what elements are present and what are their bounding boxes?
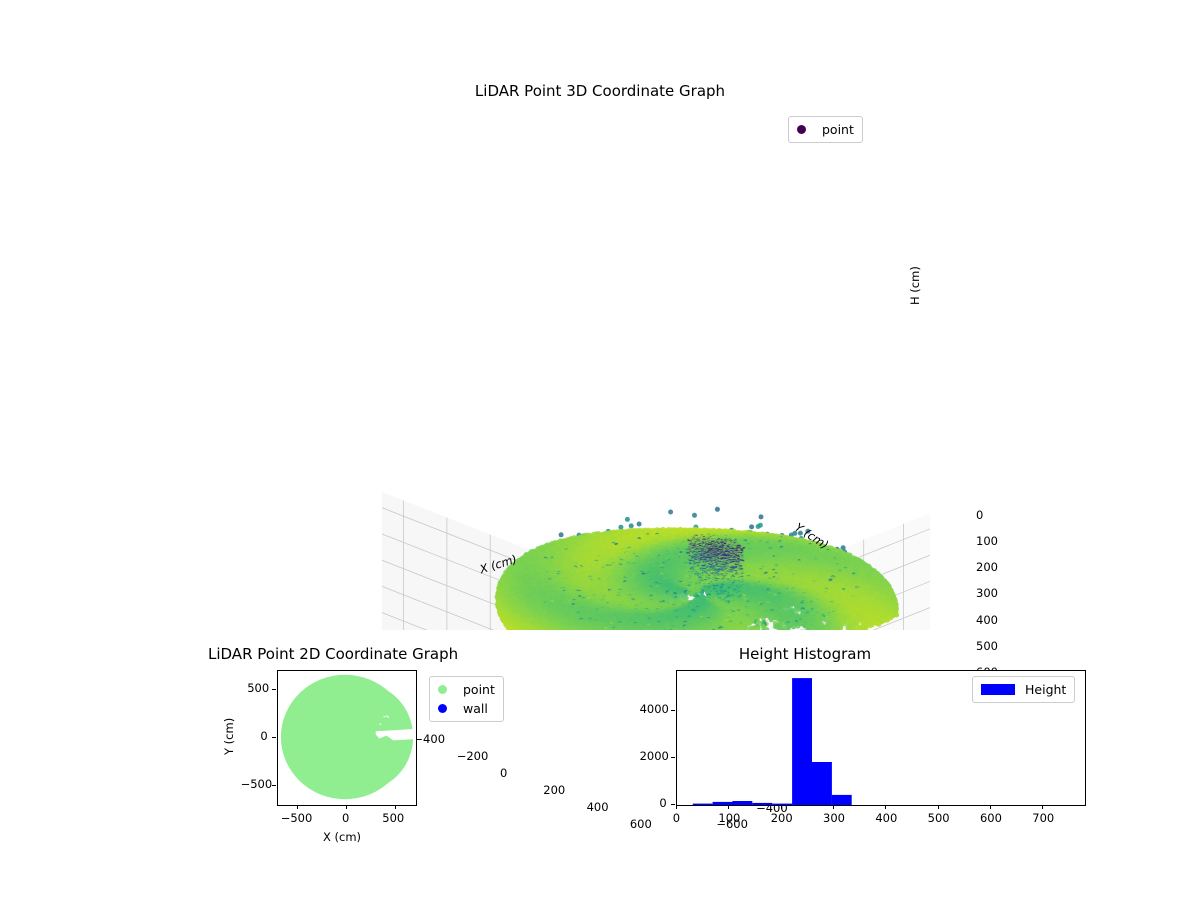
tick-label: 600 bbox=[980, 811, 1002, 825]
tick-label: 500 bbox=[928, 811, 950, 825]
tick-label: 500 bbox=[382, 811, 404, 825]
height-histogram-legend[interactable]: Height bbox=[972, 676, 1075, 703]
tick-label: 700 bbox=[1032, 811, 1054, 825]
lidar-2d-legend[interactable]: point wall bbox=[429, 676, 504, 722]
tick-label: 200 bbox=[771, 811, 793, 825]
lidar-3d-legend[interactable]: point bbox=[788, 116, 863, 143]
lidar-3d-canvas bbox=[330, 140, 930, 630]
figure-canvas: LiDAR Point 3D Coordinate Graph −600−400… bbox=[0, 0, 1200, 900]
tick-mark bbox=[885, 805, 886, 809]
tick-label: 400 bbox=[976, 613, 998, 627]
legend-item-point-2d[interactable]: point bbox=[438, 680, 495, 699]
tick-mark bbox=[671, 710, 675, 711]
tick-label: 200 bbox=[976, 560, 998, 574]
tick-label: 0 bbox=[500, 766, 507, 780]
tick-label: 0 bbox=[659, 796, 666, 810]
tick-label: −400 bbox=[413, 732, 445, 746]
wall-marker-icon bbox=[438, 704, 447, 713]
tick-label: 400 bbox=[875, 811, 897, 825]
tick-label: 0 bbox=[260, 729, 267, 743]
tick-label: −500 bbox=[281, 811, 313, 825]
tick-mark bbox=[833, 805, 834, 809]
tick-label: 2000 bbox=[640, 749, 669, 763]
tick-mark bbox=[671, 804, 675, 805]
tick-label: 0 bbox=[342, 811, 349, 825]
tick-mark bbox=[990, 805, 991, 809]
legend-label-wall-2d: wall bbox=[463, 701, 488, 716]
point-marker-icon bbox=[438, 685, 447, 694]
tick-mark bbox=[1042, 805, 1043, 809]
legend-item-point-3d[interactable]: point bbox=[797, 120, 854, 139]
tick-mark bbox=[938, 805, 939, 809]
tick-label: 500 bbox=[247, 681, 269, 695]
tick-mark bbox=[272, 737, 276, 738]
tick-mark bbox=[395, 805, 396, 809]
tick-label: −500 bbox=[241, 777, 273, 791]
legend-label-point-2d: point bbox=[463, 682, 495, 697]
tick-label: 300 bbox=[976, 586, 998, 600]
panel-3d-title: LiDAR Point 3D Coordinate Graph bbox=[0, 82, 1200, 100]
tick-mark bbox=[676, 805, 677, 809]
legend-label-height: Height bbox=[1025, 682, 1066, 697]
lidar-2d-canvas bbox=[278, 671, 416, 805]
legend-label-point-3d: point bbox=[822, 122, 854, 137]
lidar-3d-axes[interactable] bbox=[330, 140, 930, 630]
tick-label: 100 bbox=[718, 811, 740, 825]
legend-item-wall-2d[interactable]: wall bbox=[438, 699, 495, 718]
tick-label: 300 bbox=[823, 811, 845, 825]
height-bar-icon bbox=[981, 684, 1015, 695]
point-marker-icon bbox=[797, 125, 806, 134]
tick-label: 200 bbox=[543, 783, 565, 797]
tick-mark bbox=[671, 757, 675, 758]
tick-label: 600 bbox=[630, 817, 652, 831]
tick-mark bbox=[781, 805, 782, 809]
panel-hist-title: Height Histogram bbox=[0, 645, 1200, 663]
tick-mark bbox=[272, 785, 276, 786]
tick-label: −200 bbox=[457, 749, 489, 763]
tick-label: 0 bbox=[976, 508, 983, 522]
legend-item-height[interactable]: Height bbox=[981, 680, 1066, 699]
tick-mark bbox=[272, 689, 276, 690]
axis-label-z-3d: H (cm) bbox=[908, 266, 922, 305]
tick-label: 100 bbox=[976, 534, 998, 548]
tick-mark bbox=[346, 805, 347, 809]
axis-label-x-2d: X (cm) bbox=[323, 830, 361, 844]
tick-label: 400 bbox=[587, 800, 609, 814]
tick-label: 4000 bbox=[640, 702, 669, 716]
tick-label: 0 bbox=[673, 811, 680, 825]
tick-mark bbox=[297, 805, 298, 809]
lidar-2d-axes[interactable] bbox=[277, 670, 417, 806]
tick-mark bbox=[728, 805, 729, 809]
axis-label-y-2d: Y (cm) bbox=[222, 718, 236, 755]
